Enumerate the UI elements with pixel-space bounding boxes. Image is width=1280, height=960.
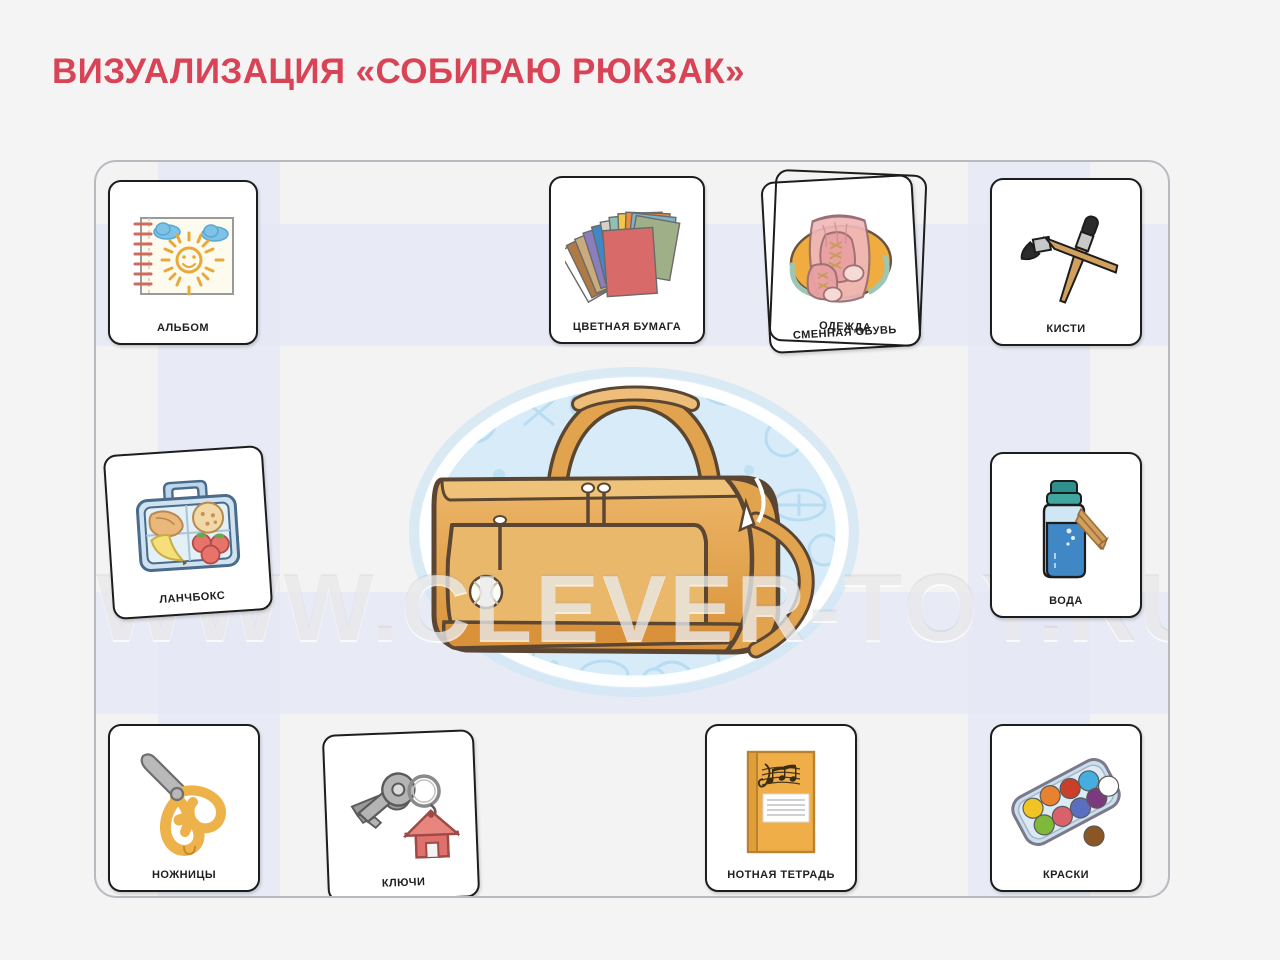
lunchbox-icon <box>111 456 263 596</box>
card-label: АЛЬБОМ <box>157 322 209 337</box>
card-label: НОЖНИЦЫ <box>152 869 216 884</box>
card-label: ОДЕЖДА <box>819 320 872 337</box>
card-scissors[interactable]: НОЖНИЦЫ <box>108 724 260 892</box>
card-label: НОТНАЯ ТЕТРАДЬ <box>727 869 835 884</box>
card-music-notebook[interactable]: НОТНАЯ ТЕТРАДЬ <box>705 724 857 892</box>
card-label: КИСТИ <box>1046 323 1085 338</box>
colored-paper-icon <box>557 187 697 321</box>
page-title: ВИЗУАЛИЗАЦИЯ «СОБИРАЮ РЮКЗАК» <box>52 52 745 92</box>
keys-icon <box>330 740 471 879</box>
card-colored-paper[interactable]: ЦВЕТНАЯ БУМАГА <box>549 176 705 344</box>
card-label: КЛЮЧИ <box>382 876 426 893</box>
card-label: ЦВЕТНАЯ БУМАГА <box>573 321 681 336</box>
poster-page: ВИЗУАЛИЗАЦИЯ «СОБИРАЮ РЮКЗАК» <box>0 0 1280 960</box>
paint-brushes-icon <box>998 189 1134 323</box>
card-label: КРАСКИ <box>1043 869 1089 884</box>
card-label: ЛАНЧБОКС <box>159 590 226 609</box>
card-lunchbox[interactable]: ЛАНЧБОКС <box>103 445 274 620</box>
duffel-bag-illustration <box>404 360 864 705</box>
music-notebook-icon <box>713 735 849 869</box>
bag-body <box>434 478 806 652</box>
card-keys[interactable]: КЛЮЧИ <box>322 729 480 898</box>
card-paints[interactable]: КРАСКИ <box>990 724 1142 892</box>
card-brushes[interactable]: КИСТИ <box>990 178 1142 346</box>
scissors-icon <box>116 735 252 869</box>
watercolor-paints-icon <box>998 735 1134 869</box>
card-clothes[interactable]: ОДЕЖДА <box>768 169 927 347</box>
sketchbook-icon <box>116 191 250 322</box>
card-label: ВОДА <box>1049 595 1083 610</box>
card-album[interactable]: АЛЬБОМ <box>108 180 258 345</box>
card-water[interactable]: ВОДА <box>990 452 1142 618</box>
water-bottle-icon <box>998 463 1134 595</box>
visualization-board: WWW.CLEVER-TOY.RU <box>94 160 1170 898</box>
